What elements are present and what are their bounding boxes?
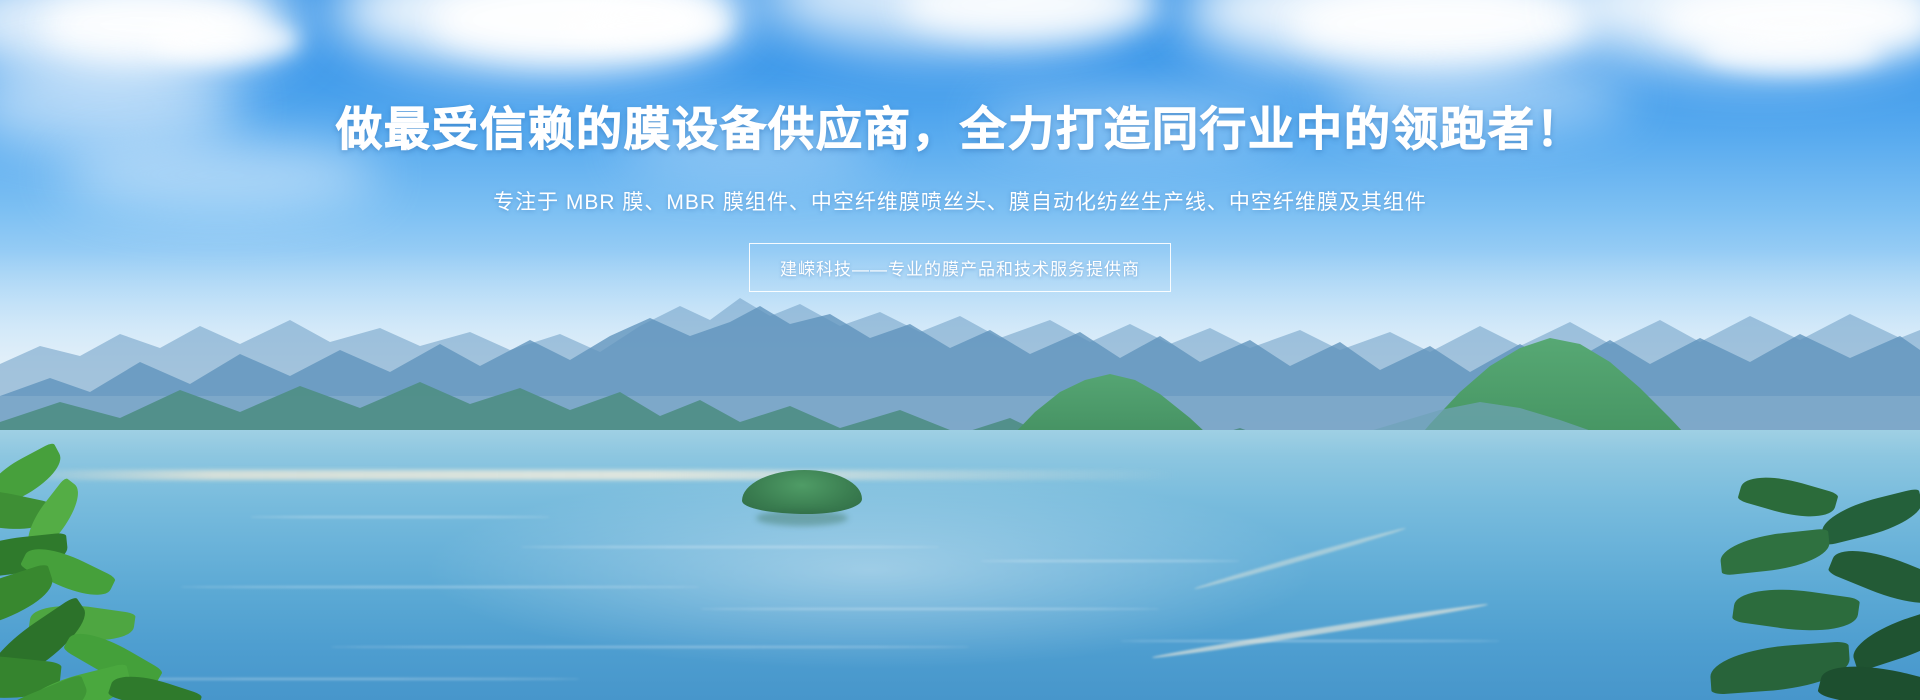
lake-island-reflection [756, 510, 848, 526]
cloud-icon [150, 18, 300, 62]
water-ripple [520, 546, 940, 548]
banner-tagline-box[interactable]: 建嵘科技——专业的膜产品和技术服务提供商 [749, 243, 1171, 292]
water-ripple [980, 560, 1240, 562]
hero-banner: 做最受信赖的膜设备供应商，全力打造同行业中的领跑者！ 专注于 MBR 膜、MBR… [0, 0, 1920, 700]
foreground-foliage [0, 430, 290, 700]
water-ripple [330, 646, 970, 648]
water-ripple [700, 608, 1160, 610]
cloud-icon [980, 90, 1280, 150]
water-ripple [250, 516, 550, 518]
foreground-tree-right [1700, 470, 1920, 700]
water-ripple [1120, 640, 1500, 642]
cloud-icon [1700, 30, 1880, 72]
cloud-icon [620, 120, 880, 176]
cloud-icon [560, 6, 730, 46]
cloud-icon [1330, 60, 1630, 130]
cloud-icon [60, 140, 380, 210]
